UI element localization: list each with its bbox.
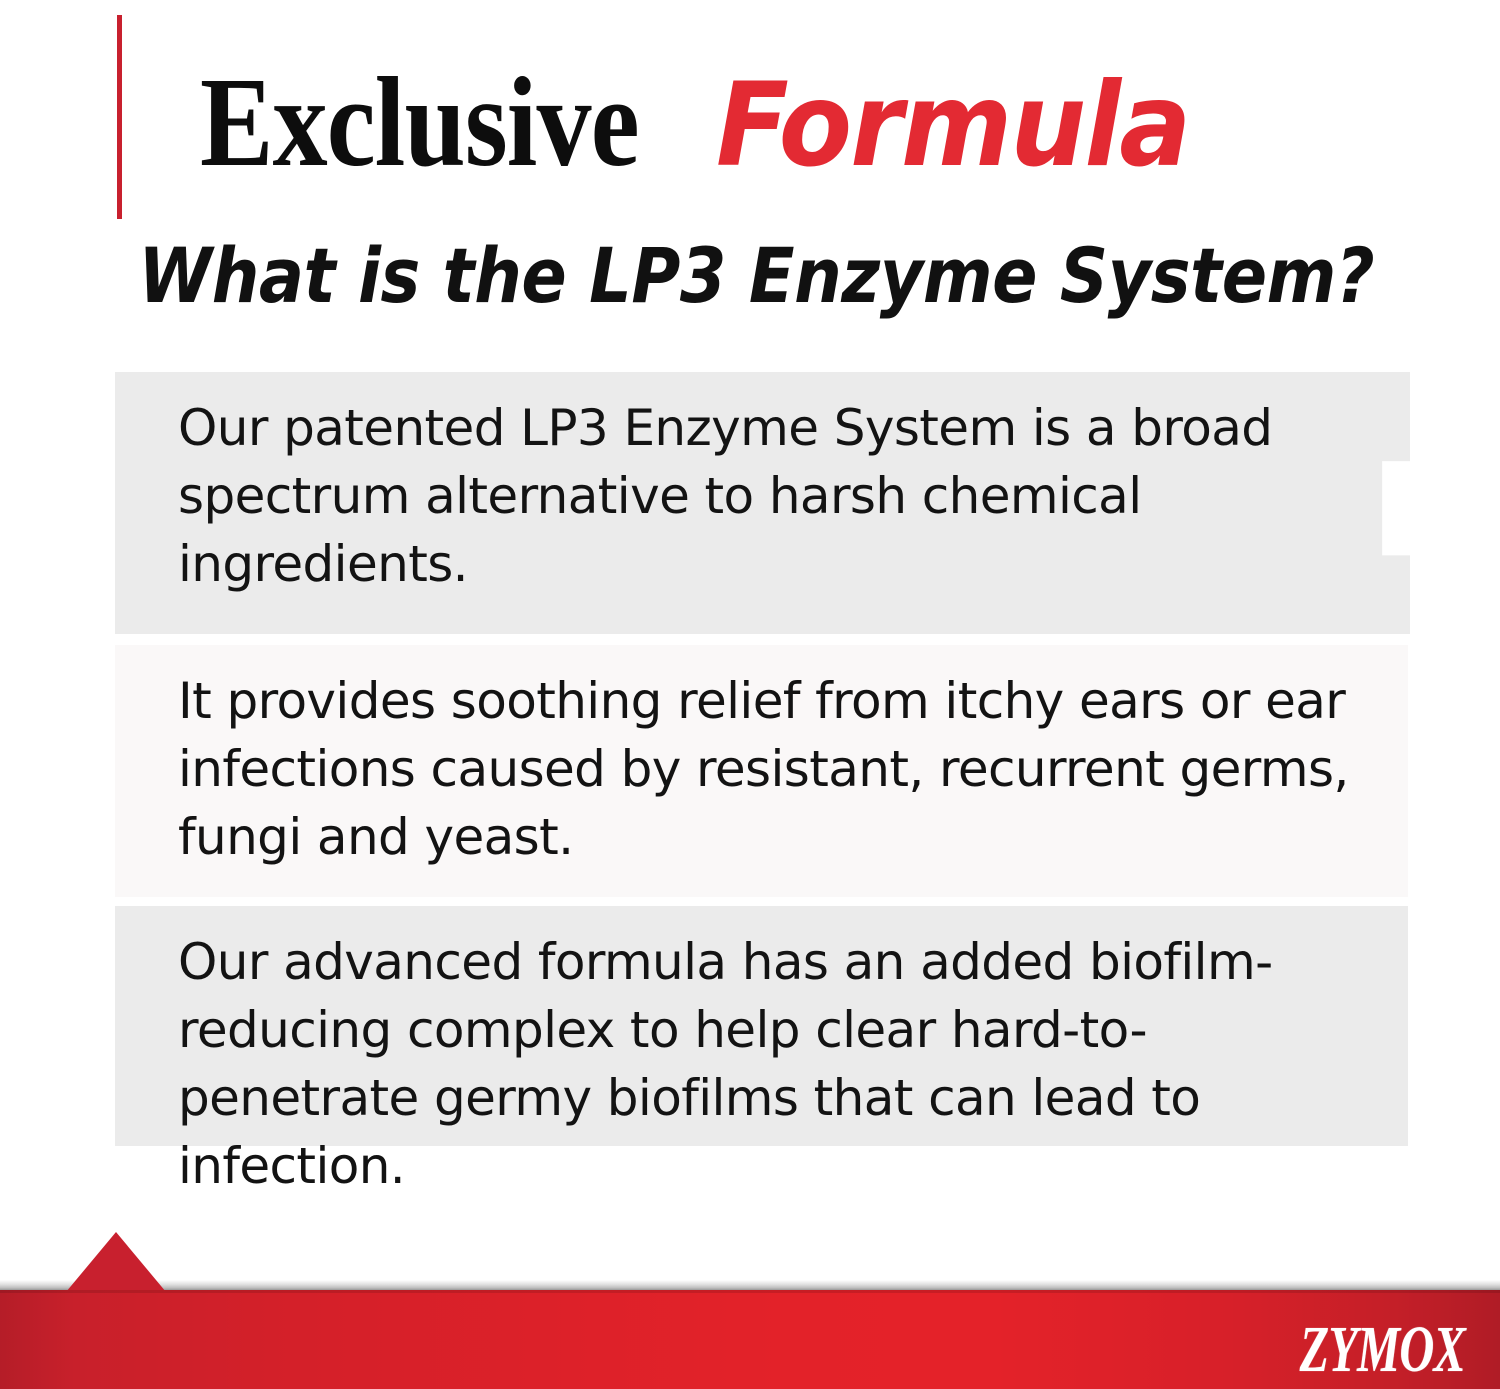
info-panel-2: It provides soothing relief from itchy e… [115,645,1408,897]
footer-banner: ZYMOX [0,1229,1500,1389]
info-panel-3: Our advanced formula has an added biofil… [115,906,1408,1146]
footer-triangle-peak-icon [66,1232,166,1292]
info-panel-3-text: Our advanced formula has an added biofil… [178,928,1378,1200]
info-panel-2-text: It provides soothing relief from itchy e… [178,667,1378,871]
page-subtitle: What is the LP3 Enzyme System? [0,238,1500,314]
page-title: ExclusiveFormula [200,58,1380,183]
zymox-brand-logo: ZYMOX [1300,1317,1465,1383]
page-title-black-word: Exclusive [200,58,639,186]
info-panel-1: Our patented LP3 Enzyme System is a broa… [115,372,1410,634]
page-title-red-word: Formula [716,68,1189,184]
infographic-page: ExclusiveFormula What is the LP3 Enzyme … [0,0,1500,1389]
page-subtitle-text: What is the LP3 Enzyme System? [126,238,1374,314]
red-accent-bar [117,15,122,219]
footer-red-band [0,1290,1500,1389]
info-panel-1-text: Our patented LP3 Enzyme System is a broa… [178,394,1380,598]
